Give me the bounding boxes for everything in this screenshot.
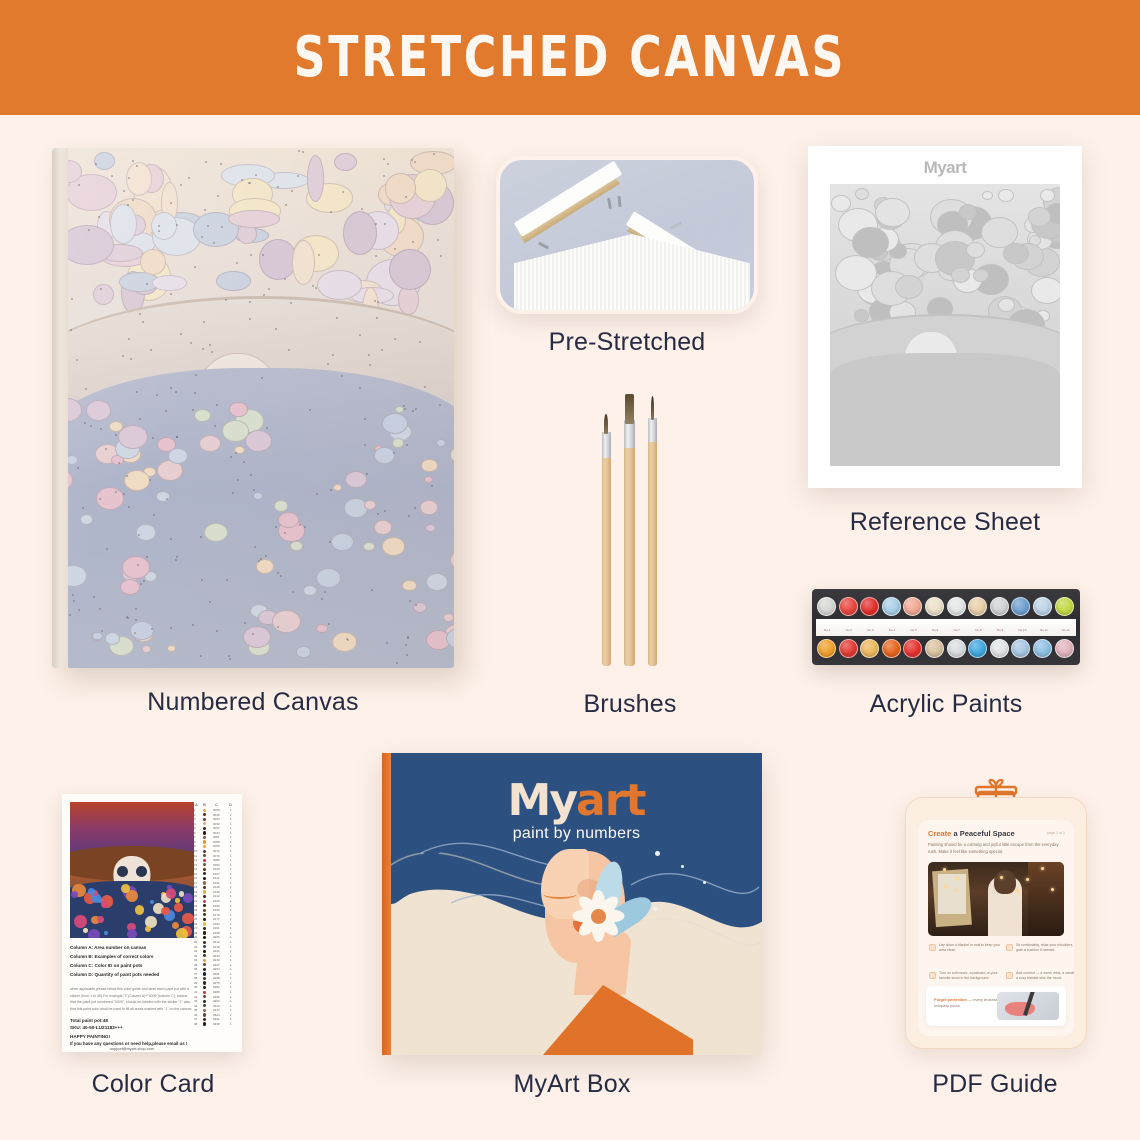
label-pdf-guide: PDF Guide <box>880 1070 1110 1099</box>
paint-pot <box>903 639 922 658</box>
label-acrylic-paints: Acrylic Paints <box>812 690 1080 719</box>
staple-1 <box>607 198 612 209</box>
label-numbered-canvas: Numbered Canvas <box>52 688 454 717</box>
pdf-photo-fireplace <box>1028 862 1064 936</box>
pdf-page: Create a Peaceful Space page 1 of 1 Pain… <box>918 820 1074 1036</box>
color-card-legend: Column A: Area number on canvas Column B… <box>70 944 194 980</box>
pdf-tip-3: Turn on soft music, a podcast, or your f… <box>939 971 1005 982</box>
staple-3 <box>538 242 549 250</box>
paint-pot <box>1055 639 1074 658</box>
pdf-callout-accent: Forget perfection <box>934 997 967 1002</box>
brush-flat <box>624 394 635 666</box>
paint-pot <box>860 639 879 658</box>
pdf-guide: Create a Peaceful Space page 1 of 1 Pain… <box>905 797 1087 1049</box>
legend-line-a: Column A: Area number on canvas <box>70 944 194 953</box>
numbered-canvas <box>52 148 454 668</box>
paint-pot <box>925 639 944 658</box>
paint-tray-label-strip: No.1No.2No.3No.4No.5No.6No.7No.8No.9No.1… <box>816 619 1076 636</box>
canvas-edge-left <box>514 161 623 237</box>
paint-pot <box>882 597 901 616</box>
reference-sheet: Myart <box>808 146 1082 488</box>
brush-round-small <box>602 418 611 666</box>
paint-pot <box>839 597 858 616</box>
paint-pot <box>947 597 966 616</box>
logo-my-text: My <box>508 775 576 826</box>
legend-line-b: Column B: Examples of correct colors <box>70 953 194 962</box>
cc-eye-l <box>117 866 128 877</box>
staple-2 <box>617 196 621 207</box>
pdf-page-marker: page 1 of 1 <box>1047 831 1065 835</box>
color-card-contact: If you have any questions or need help,p… <box>70 1041 194 1046</box>
pdf-heading-accent: Create <box>928 829 951 838</box>
pdf-photo <box>928 862 1064 936</box>
box-daisy-flower <box>569 887 627 945</box>
color-card: Column A: Area number on canvas Column B… <box>62 794 242 1052</box>
paint-pot <box>817 597 836 616</box>
col-header-a: A <box>195 802 198 807</box>
color-card-happy: HAPPY PAINTING! <box>70 1034 194 1039</box>
paint-pot <box>860 597 879 616</box>
paint-pot <box>947 639 966 658</box>
label-myart-box: MyArt Box <box>382 1070 762 1099</box>
tip-icon-2 <box>1006 944 1013 951</box>
pdf-subtitle: Painting should be a calming and joyful … <box>928 842 1064 855</box>
paint-pot <box>1033 639 1052 658</box>
pdf-photo-canvas <box>938 874 966 914</box>
brush-liner <box>648 398 657 666</box>
color-card-row: 48 0338 1 <box>194 1022 236 1027</box>
label-brushes: Brushes <box>500 690 760 719</box>
legend-line-c: Column C: Color ID on paint pots <box>70 962 194 971</box>
pdf-callout: Forget perfection — every brushstroke is… <box>926 986 1066 1026</box>
box-logo: Myart <box>391 775 762 826</box>
paint-pot <box>817 639 836 658</box>
pre-stretched-card <box>496 156 758 314</box>
paint-pot <box>882 639 901 658</box>
color-card-table: A B C D 1 0009 1 2 0016 1 3 0023 1 4 003… <box>194 802 236 1044</box>
paint-pot <box>968 639 987 658</box>
pdf-callout-image <box>997 992 1059 1020</box>
pdf-heading: Create a Peaceful Space <box>928 829 1015 838</box>
paint-pot <box>925 597 944 616</box>
label-pre-stretched: Pre-Stretched <box>496 328 758 357</box>
col-header-b: B <box>203 802 206 807</box>
paint-pot <box>1011 597 1030 616</box>
paint-pot <box>903 597 922 616</box>
tip-icon-1 <box>929 944 936 951</box>
acrylic-paints-tray: No.1No.2No.3No.4No.5No.6No.7No.8No.9No.1… <box>812 589 1080 665</box>
pdf-photo-hair <box>994 870 1016 894</box>
canvas-artwork <box>68 148 454 668</box>
product-infographic: STRETCHED CANVAS Numbered Canvas <box>0 0 1140 1140</box>
col-header-c: C <box>215 802 218 807</box>
paint-pot <box>990 639 1009 658</box>
pdf-tip-4: Add comfort — a warm drink, a candle, or… <box>1016 971 1074 982</box>
paint-pot <box>1055 597 1074 616</box>
color-card-email: support@myart-shop.com <box>70 1047 194 1051</box>
color-card-sku: SKU: 40-50-LUZ1183+++ <box>70 1025 194 1030</box>
box-front-face: Myart paint by numbers <box>391 753 762 1055</box>
label-color-card: Color Card <box>40 1070 266 1099</box>
paint-pot <box>990 597 1009 616</box>
canvas-floral-dress <box>68 368 454 668</box>
box-orange-edge <box>382 753 391 1055</box>
tip-icon-4 <box>1006 972 1013 979</box>
gray-dress <box>830 353 1060 466</box>
paint-pot <box>1011 639 1030 658</box>
pdf-heading-rest: a Peaceful Space <box>951 829 1014 838</box>
cc-eye-r <box>136 866 147 877</box>
box-tagline: paint by numbers <box>391 825 762 843</box>
reference-sheet-logo: Myart <box>808 158 1082 178</box>
paint-pot <box>1033 597 1052 616</box>
myart-box: Myart paint by numbers <box>382 753 762 1055</box>
color-card-fine-print: when applicable,please follow this color… <box>70 986 194 1013</box>
pdf-tip-2: Sit comfortably, relax your shoulders, a… <box>1016 943 1074 954</box>
color-card-total: Total paint pot:48 <box>70 1018 194 1023</box>
page-title: STRETCHED CANVAS <box>294 25 846 90</box>
paint-pot <box>839 639 858 658</box>
staple-4 <box>670 221 682 229</box>
reference-sheet-artwork <box>830 184 1060 466</box>
logo-art-text: art <box>576 775 645 826</box>
col-header-d: D <box>229 802 232 807</box>
label-reference-sheet: Reference Sheet <box>780 508 1110 537</box>
paint-pot <box>968 597 987 616</box>
brushes <box>578 382 682 666</box>
tip-icon-3 <box>929 972 936 979</box>
pdf-tip-1: Lay down a blanket or mat to keep your a… <box>939 943 1005 954</box>
color-card-photo <box>70 802 194 938</box>
legend-line-d: Column D: Quantity of paint pots needed <box>70 971 194 980</box>
header-banner: STRETCHED CANVAS <box>0 0 1140 115</box>
